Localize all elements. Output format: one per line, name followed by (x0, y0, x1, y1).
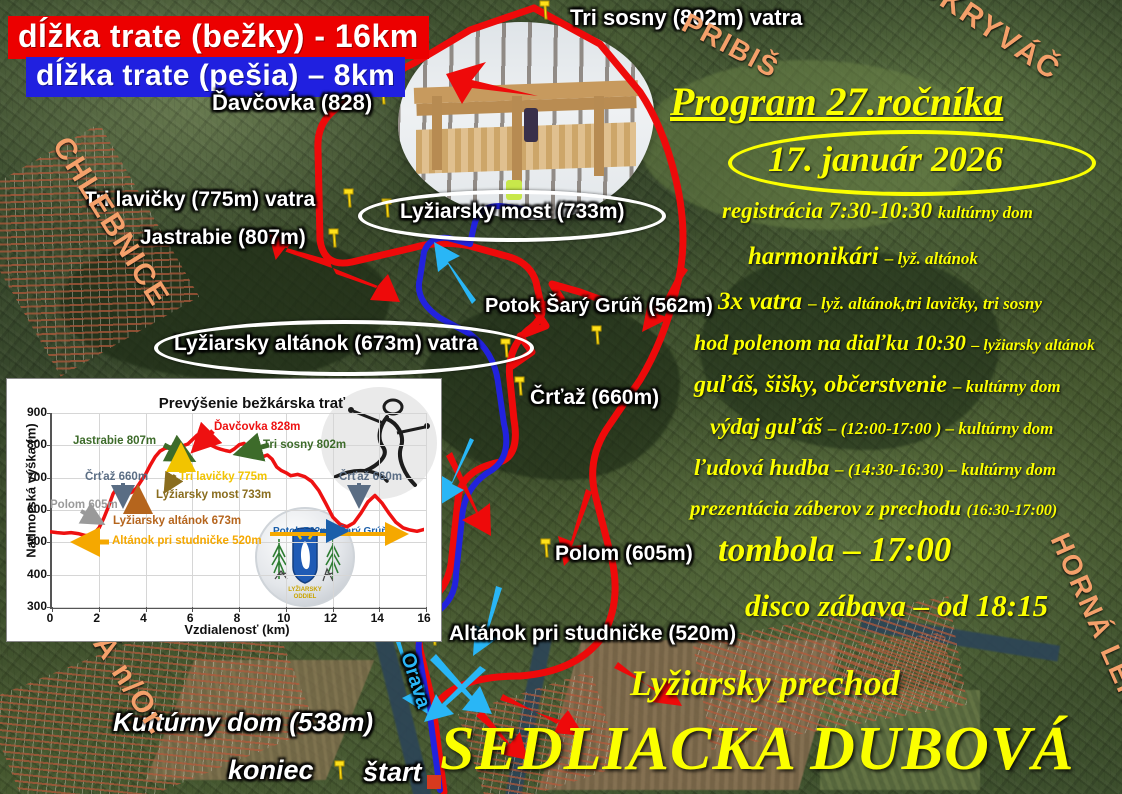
program-item-main: 3x vatra (718, 288, 802, 315)
map-label-altanok-studnicke: Altánok pri studničke (520m) (449, 622, 736, 646)
program-item-main: hod polenom na diaľku 10:30 (694, 330, 966, 355)
title-lyziarsky-prechod: Lyžiarsky prechod (630, 662, 900, 704)
map-label-polom: Polom (605m) (555, 542, 693, 566)
program-item: 3x vatra – lyž. altánok,tri lavičky, tri… (718, 288, 1042, 316)
map-label-jastrabie: Jastrabie (807m) (140, 226, 306, 250)
program-item-note: (16:30-17:00) (967, 502, 1058, 519)
program-item: harmonikári – lyž. altánok (748, 243, 978, 271)
program-item-note: – (12:00-17:00 ) – kultúrny dom (828, 419, 1053, 438)
program-date: 17. január 2026 (768, 138, 1003, 180)
poster-root: dĺžka trate (bežky) - 16km dĺžka trate (… (0, 0, 1122, 794)
program-item: prezentácia záberov z prechodu (16:30-17… (690, 496, 1057, 521)
program-item-main: výdaj guľáš (710, 414, 822, 439)
map-pin-crtaz (513, 376, 526, 396)
banner-bezky: dĺžka trate (bežky) - 16km (8, 16, 429, 59)
program-item: ľudová hudba – (14:30-16:30) – kultúrny … (694, 455, 1056, 481)
program-item: registrácia 7:30-10:30 kultúrny dom (722, 198, 1033, 224)
map-pin-potok-sary-grun (590, 325, 603, 345)
map-pin-tri-lavicky (342, 188, 355, 208)
program-item: hod polenom na diaľku 10:30 – lyžiarsky … (694, 330, 1095, 356)
program-item: výdaj guľáš – (12:00-17:00 ) – kultúrny … (710, 414, 1053, 440)
program-item-note: kultúrny dom (938, 203, 1033, 222)
program-item-main: prezentácia záberov z prechodu (690, 496, 961, 520)
map-pin-tri-sosny (538, 0, 551, 20)
highlight-oval-lyziarsky-altanok (154, 320, 534, 376)
title-sedliacka-dubova: SEDLIACKA DUBOVÁ (440, 714, 1075, 785)
map-label-koniec: koniec (228, 755, 314, 786)
map-pin-polom (539, 538, 552, 558)
map-pin-koniec (333, 760, 346, 780)
program-item-main: guľáš, šišky, občerstvenie (694, 372, 947, 398)
map-pin-jastrabie (327, 228, 340, 248)
program-item-main: harmonikári (748, 243, 879, 270)
elevation-chart: LYŽIARSKY ODDIEL Prevýšenie bežkárska tr… (6, 378, 442, 642)
program-heading: Program 27.ročníka (670, 78, 1003, 125)
map-label-crtaz: Črťaž (660m) (530, 386, 659, 410)
map-label-start: štart (363, 757, 422, 788)
map-label-potok-sary-grun: Potok Šarý Grúň (562m) (485, 295, 713, 318)
map-label-davcovka: Ďavčovka (828) (212, 90, 372, 116)
program-item-note: – lyžiarsky altánok (971, 337, 1095, 354)
program-item-main: registrácia 7:30-10:30 (722, 198, 932, 223)
program-item-note: – lyž. altánok (885, 249, 978, 268)
program-item-note: – lyž. altánok,tri lavičky, tri sosny (808, 294, 1042, 313)
highlight-oval-lyziarsky-most (358, 190, 666, 242)
program-item-note: – (14:30-16:30) – kultúrny dom (835, 460, 1056, 479)
program-item-main: ľudová hudba (694, 455, 829, 480)
program-item-note: – kultúrny dom (953, 377, 1061, 396)
chart-annotation-arrows (7, 379, 441, 641)
program-item: guľáš, šišky, občerstvenie – kultúrny do… (694, 372, 1061, 399)
program-disco: disco zábava – od 18:15 (745, 588, 1048, 624)
program-tombola: tombola – 17:00 (718, 530, 951, 570)
